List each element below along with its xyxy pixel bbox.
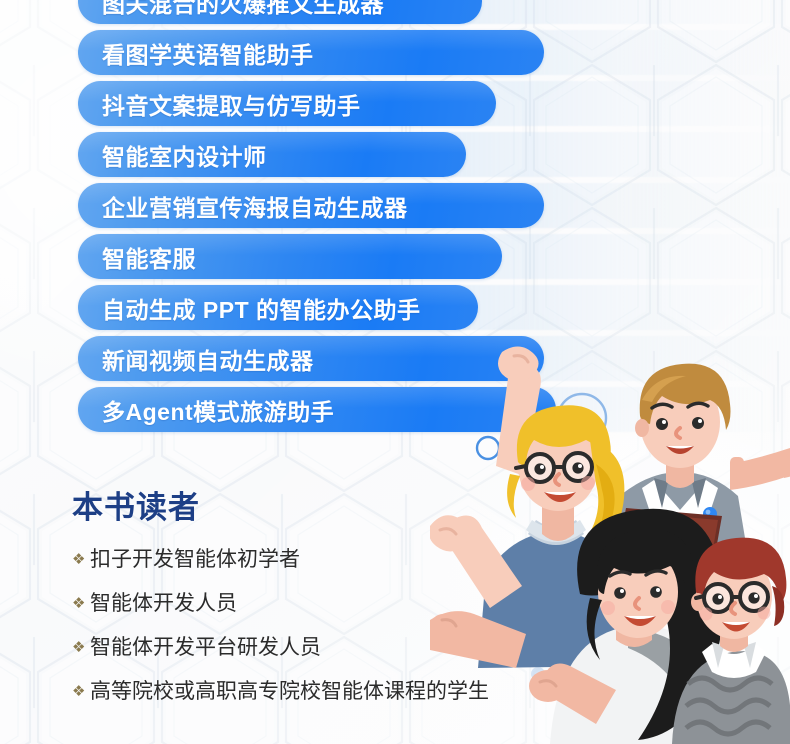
feature-bar-2[interactable]: 看图学英语智能助手 — [78, 30, 544, 75]
bar-row: 智能室内设计师 — [0, 129, 790, 180]
bar-row: 多Agent模式旅游助手 — [0, 384, 790, 435]
feature-bar-label: 自动生成 PPT 的智能办公助手 — [102, 291, 421, 325]
reader-item-label: 扣子开发智能体初学者 — [90, 543, 300, 573]
feature-bar-6[interactable]: 智能客服 — [78, 234, 502, 279]
feature-bar-1[interactable]: 图关混合的火爆推文生成器 — [78, 0, 482, 24]
feature-bar-label: 多Agent模式旅游助手 — [102, 393, 334, 427]
feature-bar-list: 图关混合的火爆推文生成器 看图学英语智能助手 抖音文案提取与仿写助手 智能室内设… — [0, 0, 790, 435]
diamond-bullet-icon: ❖ — [72, 552, 90, 567]
list-item: ❖ 扣子开发智能体初学者 — [72, 543, 632, 573]
list-item: ❖ 智能体开发平台研发人员 — [72, 631, 632, 661]
feature-bar-label: 看图学英语智能助手 — [102, 36, 314, 70]
feature-bar-label: 企业营销宣传海报自动生成器 — [102, 189, 408, 223]
feature-bar-7[interactable]: 自动生成 PPT 的智能办公助手 — [78, 285, 478, 330]
readers-section: 本书读者 ❖ 扣子开发智能体初学者 ❖ 智能体开发人员 ❖ 智能体开发平台研发人… — [72, 482, 632, 719]
reader-item-label: 智能体开发人员 — [90, 587, 237, 617]
list-item: ❖ 高等院校或高职高专院校智能体课程的学生 — [72, 675, 632, 705]
bar-row: 自动生成 PPT 的智能办公助手 — [0, 282, 790, 333]
feature-bar-9[interactable]: 多Agent模式旅游助手 — [78, 387, 556, 432]
reader-item-label: 智能体开发平台研发人员 — [90, 631, 321, 661]
feature-bar-4[interactable]: 智能室内设计师 — [78, 132, 466, 177]
feature-bar-label: 智能客服 — [102, 240, 196, 274]
feature-bar-8[interactable]: 新闻视频自动生成器 — [78, 336, 544, 381]
bar-row: 新闻视频自动生成器 — [0, 333, 790, 384]
feature-bar-label: 抖音文案提取与仿写助手 — [102, 87, 361, 121]
bar-row: 抖音文案提取与仿写助手 — [0, 78, 790, 129]
feature-bar-5[interactable]: 企业营销宣传海报自动生成器 — [78, 183, 544, 228]
diamond-bullet-icon: ❖ — [72, 640, 90, 655]
promo-page: 图关混合的火爆推文生成器 看图学英语智能助手 抖音文案提取与仿写助手 智能室内设… — [0, 0, 790, 744]
bar-row: 企业营销宣传海报自动生成器 — [0, 180, 790, 231]
feature-bar-label: 图关混合的火爆推文生成器 — [102, 0, 384, 19]
bar-row: 看图学英语智能助手 — [0, 27, 790, 78]
list-item: ❖ 智能体开发人员 — [72, 587, 632, 617]
diamond-bullet-icon: ❖ — [72, 596, 90, 611]
feature-bar-3[interactable]: 抖音文案提取与仿写助手 — [78, 81, 496, 126]
bar-row: 图关混合的火爆推文生成器 — [0, 0, 790, 27]
reader-item-label: 高等院校或高职高专院校智能体课程的学生 — [90, 675, 489, 705]
feature-bar-label: 智能室内设计师 — [102, 138, 267, 172]
bar-row: 智能客服 — [0, 231, 790, 282]
diamond-bullet-icon: ❖ — [72, 684, 90, 699]
feature-bar-label: 新闻视频自动生成器 — [102, 342, 314, 376]
readers-heading: 本书读者 — [72, 482, 632, 527]
